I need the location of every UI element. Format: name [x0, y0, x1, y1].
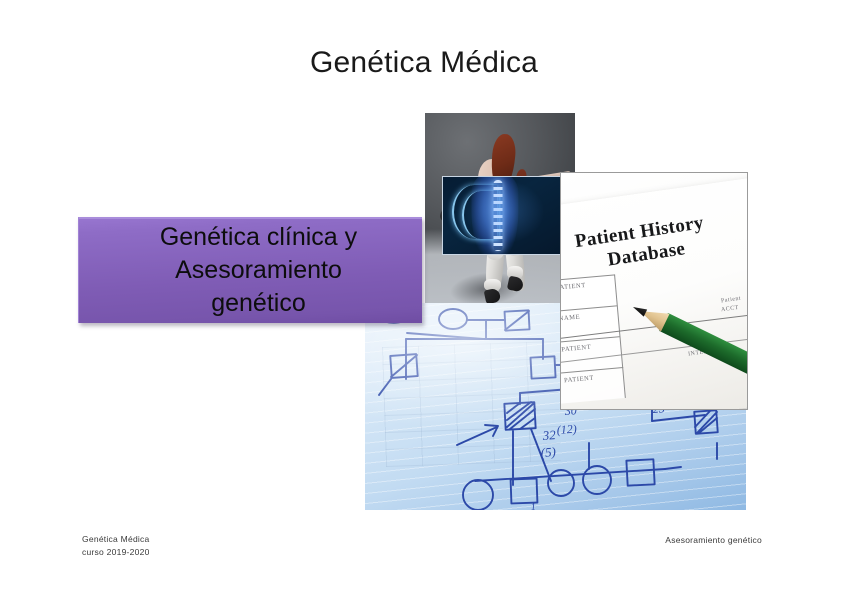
- spine-xray-inset-panel: [442, 176, 562, 255]
- svg-text:(12): (12): [556, 422, 577, 437]
- footer-right-text: Asesoramiento genético: [665, 535, 762, 545]
- section-title-text: Genética clínica y Asesoramiento genétic…: [144, 221, 357, 320]
- svg-text:1: 1: [530, 502, 536, 510]
- svg-text:32: 32: [541, 427, 557, 443]
- svg-text:(5): (5): [540, 444, 556, 460]
- document-field-label: PATIENT: [564, 375, 594, 385]
- document-field-label: PATIENT: [560, 282, 586, 292]
- slide-canvas: Genética Médica PATIENT: [0, 0, 848, 599]
- patient-history-database-image: PATIENT NAME PATIENT PATIENT Patient His…: [560, 172, 748, 410]
- document-field-row: PATIENT: [560, 367, 626, 404]
- page-title: Genética Médica: [0, 46, 848, 80]
- section-title-banner: Genética clínica y Asesoramiento genétic…: [78, 217, 422, 323]
- document-field-label: NAME: [560, 314, 580, 323]
- document-field-column: PATIENT NAME PATIENT PATIENT: [560, 274, 627, 410]
- xray-glow: [443, 177, 561, 254]
- footer-left-text: Genética Médica curso 2019-2020: [82, 533, 150, 558]
- medical-figure-spine-xray-image: [425, 113, 575, 320]
- document-field-label: PATIENT: [561, 344, 591, 354]
